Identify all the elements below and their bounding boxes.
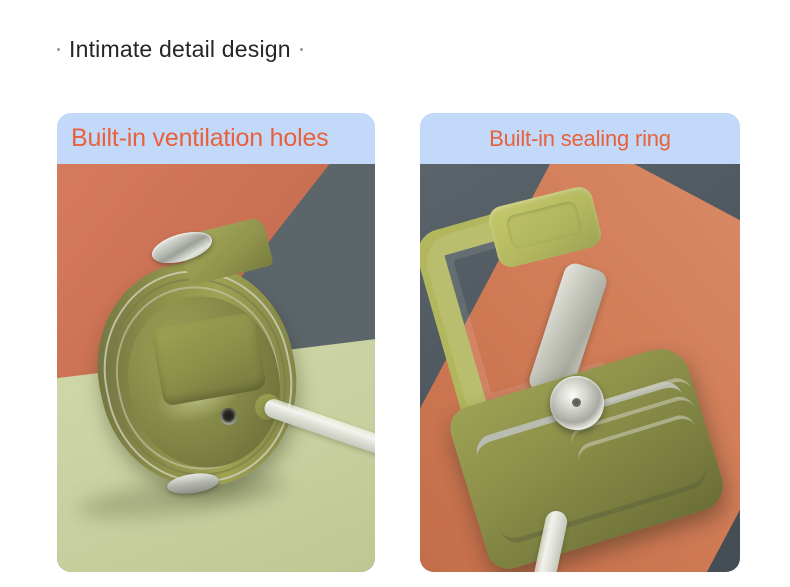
product-photo-ventilation <box>57 164 375 572</box>
panel-caption-ventilation: Built-in ventilation holes <box>57 113 375 164</box>
decorative-dot-right-icon <box>300 48 303 51</box>
page-title: Intimate detail design <box>69 38 291 61</box>
panel-caption-sealing-ring: Built-in sealing ring <box>420 113 740 164</box>
caption-label: Built-in ventilation holes <box>71 126 328 151</box>
product-photo-sealing-ring <box>420 164 740 572</box>
pivot-rivet-icon <box>550 376 604 430</box>
ventilation-hole <box>220 408 237 425</box>
decorative-dot-left-icon <box>57 48 60 51</box>
bottle-cap-assembly <box>95 224 309 514</box>
bottle-cap-handle-assembly <box>428 178 728 572</box>
feature-panel-group: Built-in ventilation holes <box>0 113 790 572</box>
feature-panel-sealing-ring: Built-in sealing ring <box>420 113 740 572</box>
feature-panel-ventilation: Built-in ventilation holes <box>57 113 375 572</box>
caption-label: Built-in sealing ring <box>489 128 671 150</box>
page-heading: Intimate detail design <box>57 38 303 61</box>
